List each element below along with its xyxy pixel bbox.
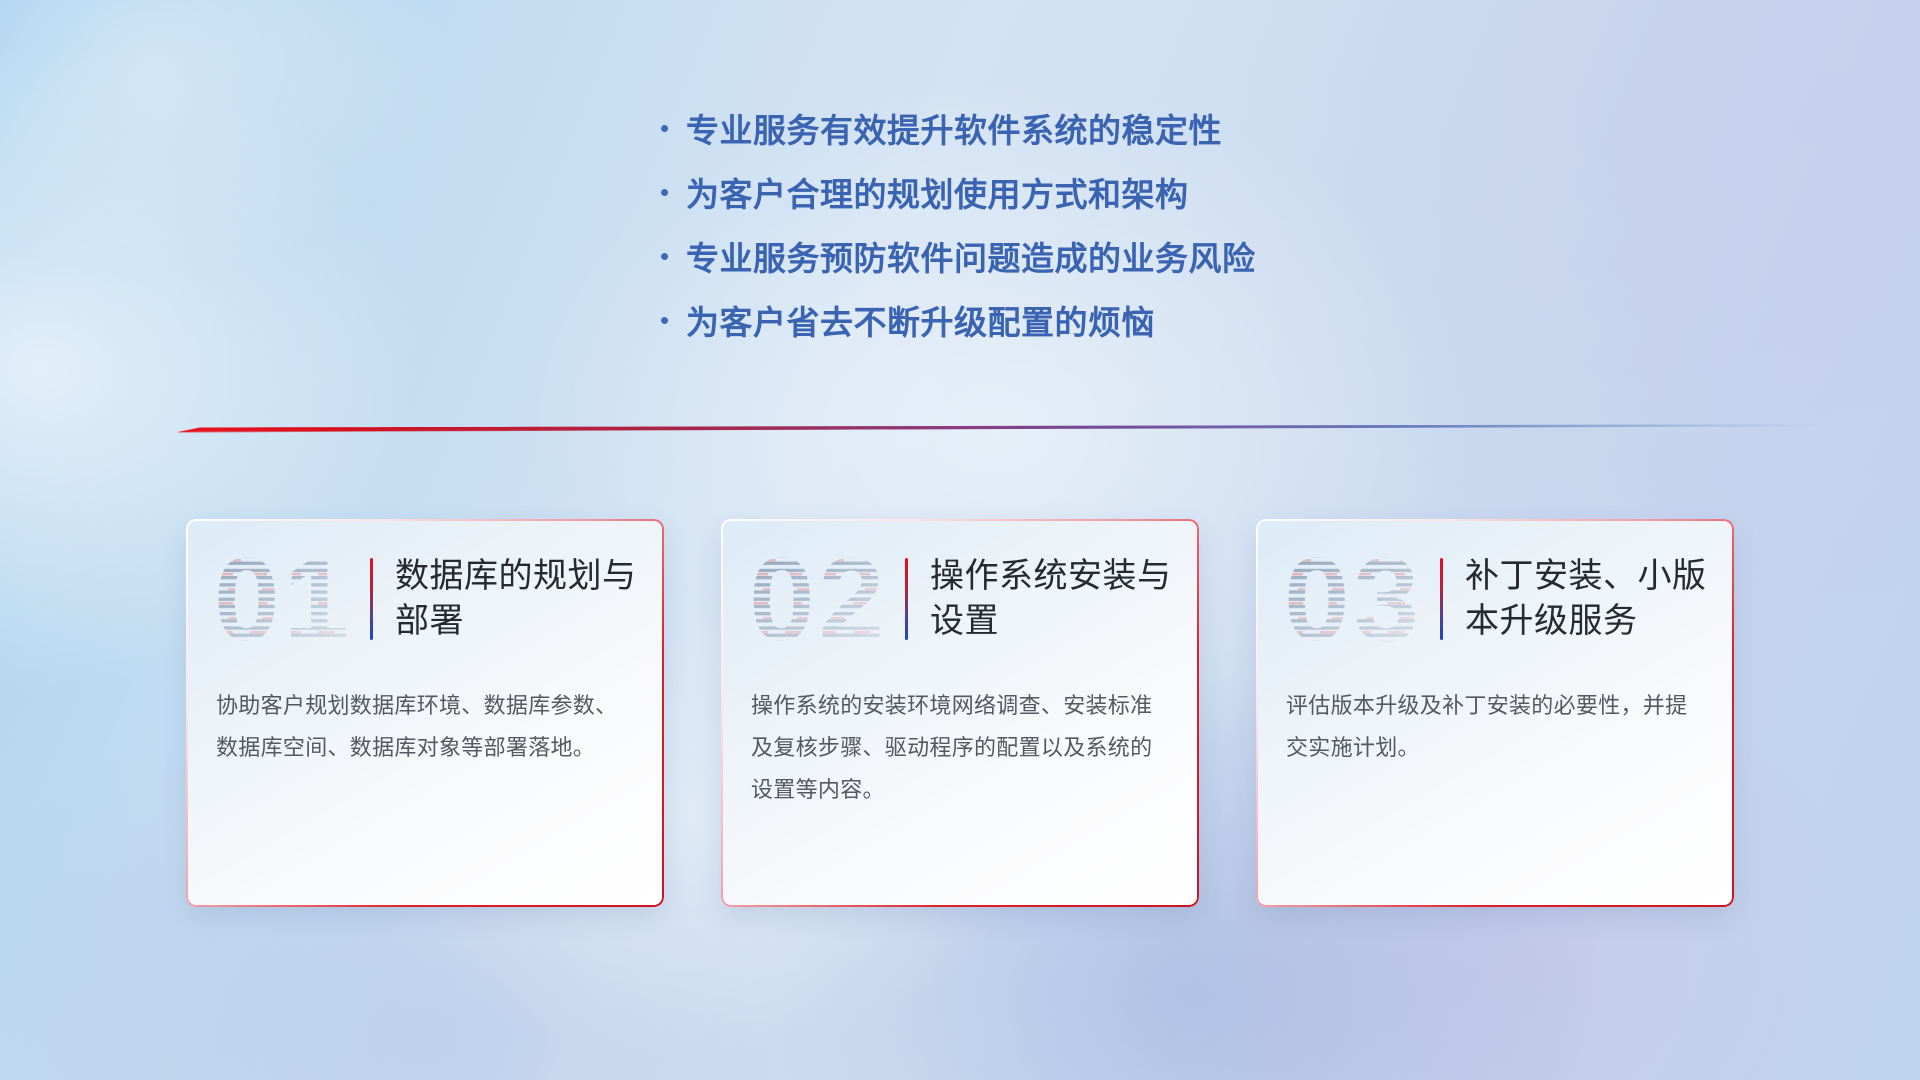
card-header: 02 02 操作系统安装与设置 [721, 519, 1199, 671]
card-body-text: 操作系统的安装环境网络调查、安装标准及复核步骤、驱动程序的配置以及系统的设置等内… [721, 671, 1199, 812]
card-title-divider [1440, 558, 1443, 640]
bullet-list: • 专业服务有效提升软件系统的稳定性 • 为客户合理的规划使用方式和架构 • 专… [660, 96, 1256, 352]
feature-card[interactable]: 02 02 操作系统安装与设置 操作系统的安装环境网络调查、安装标准及复核步骤、… [721, 519, 1199, 907]
bullet-text: 专业服务预防软件问题造成的业务风险 [686, 232, 1256, 280]
list-item: • 专业服务有效提升软件系统的稳定性 [660, 96, 1256, 160]
card-title-divider [905, 558, 908, 640]
card-header: 01 01 数据库的规划与部署 [186, 519, 664, 671]
card-number-graphic: 02 02 [749, 540, 899, 658]
svg-text:03: 03 [1284, 540, 1423, 658]
card-title: 操作系统安装与设置 [930, 554, 1173, 644]
feature-card[interactable]: 01 01 数据库的规划与部署 协助客户规划数据库环境、数据库参数、数据库空间、… [186, 519, 664, 907]
bullet-text: 专业服务有效提升软件系统的稳定性 [686, 104, 1222, 152]
card-title: 数据库的规划与部署 [395, 554, 638, 644]
bullet-dot-icon: • [660, 179, 686, 205]
list-item: • 为客户省去不断升级配置的烦恼 [660, 288, 1256, 352]
feature-card[interactable]: 03 03 补丁安装、小版本升级服务 评估版本升级及补丁安装的必要性，并提交实施… [1256, 519, 1734, 907]
list-item: • 专业服务预防软件问题造成的业务风险 [660, 224, 1256, 288]
bullet-text: 为客户合理的规划使用方式和架构 [686, 168, 1189, 216]
card-title-divider [370, 558, 373, 640]
card-title: 补丁安装、小版本升级服务 [1465, 554, 1708, 644]
card-body-text: 协助客户规划数据库环境、数据库参数、数据库空间、数据库对象等部署落地。 [186, 671, 664, 769]
feature-card-row: 01 01 数据库的规划与部署 协助客户规划数据库环境、数据库参数、数据库空间、… [186, 519, 1734, 907]
card-body-text: 评估版本升级及补丁安装的必要性，并提交实施计划。 [1256, 671, 1734, 769]
card-number-graphic: 01 01 [214, 540, 364, 658]
svg-text:01: 01 [214, 540, 353, 658]
list-item: • 为客户合理的规划使用方式和架构 [660, 160, 1256, 224]
slide-canvas: • 专业服务有效提升软件系统的稳定性 • 为客户合理的规划使用方式和架构 • 专… [0, 0, 1920, 1080]
bullet-text: 为客户省去不断升级配置的烦恼 [686, 296, 1155, 344]
card-number-graphic: 03 03 [1284, 540, 1434, 658]
bullet-dot-icon: • [660, 243, 686, 269]
section-divider [178, 418, 1858, 438]
svg-text:02: 02 [749, 540, 888, 658]
bullet-dot-icon: • [660, 115, 686, 141]
card-header: 03 03 补丁安装、小版本升级服务 [1256, 519, 1734, 671]
bullet-dot-icon: • [660, 307, 686, 333]
